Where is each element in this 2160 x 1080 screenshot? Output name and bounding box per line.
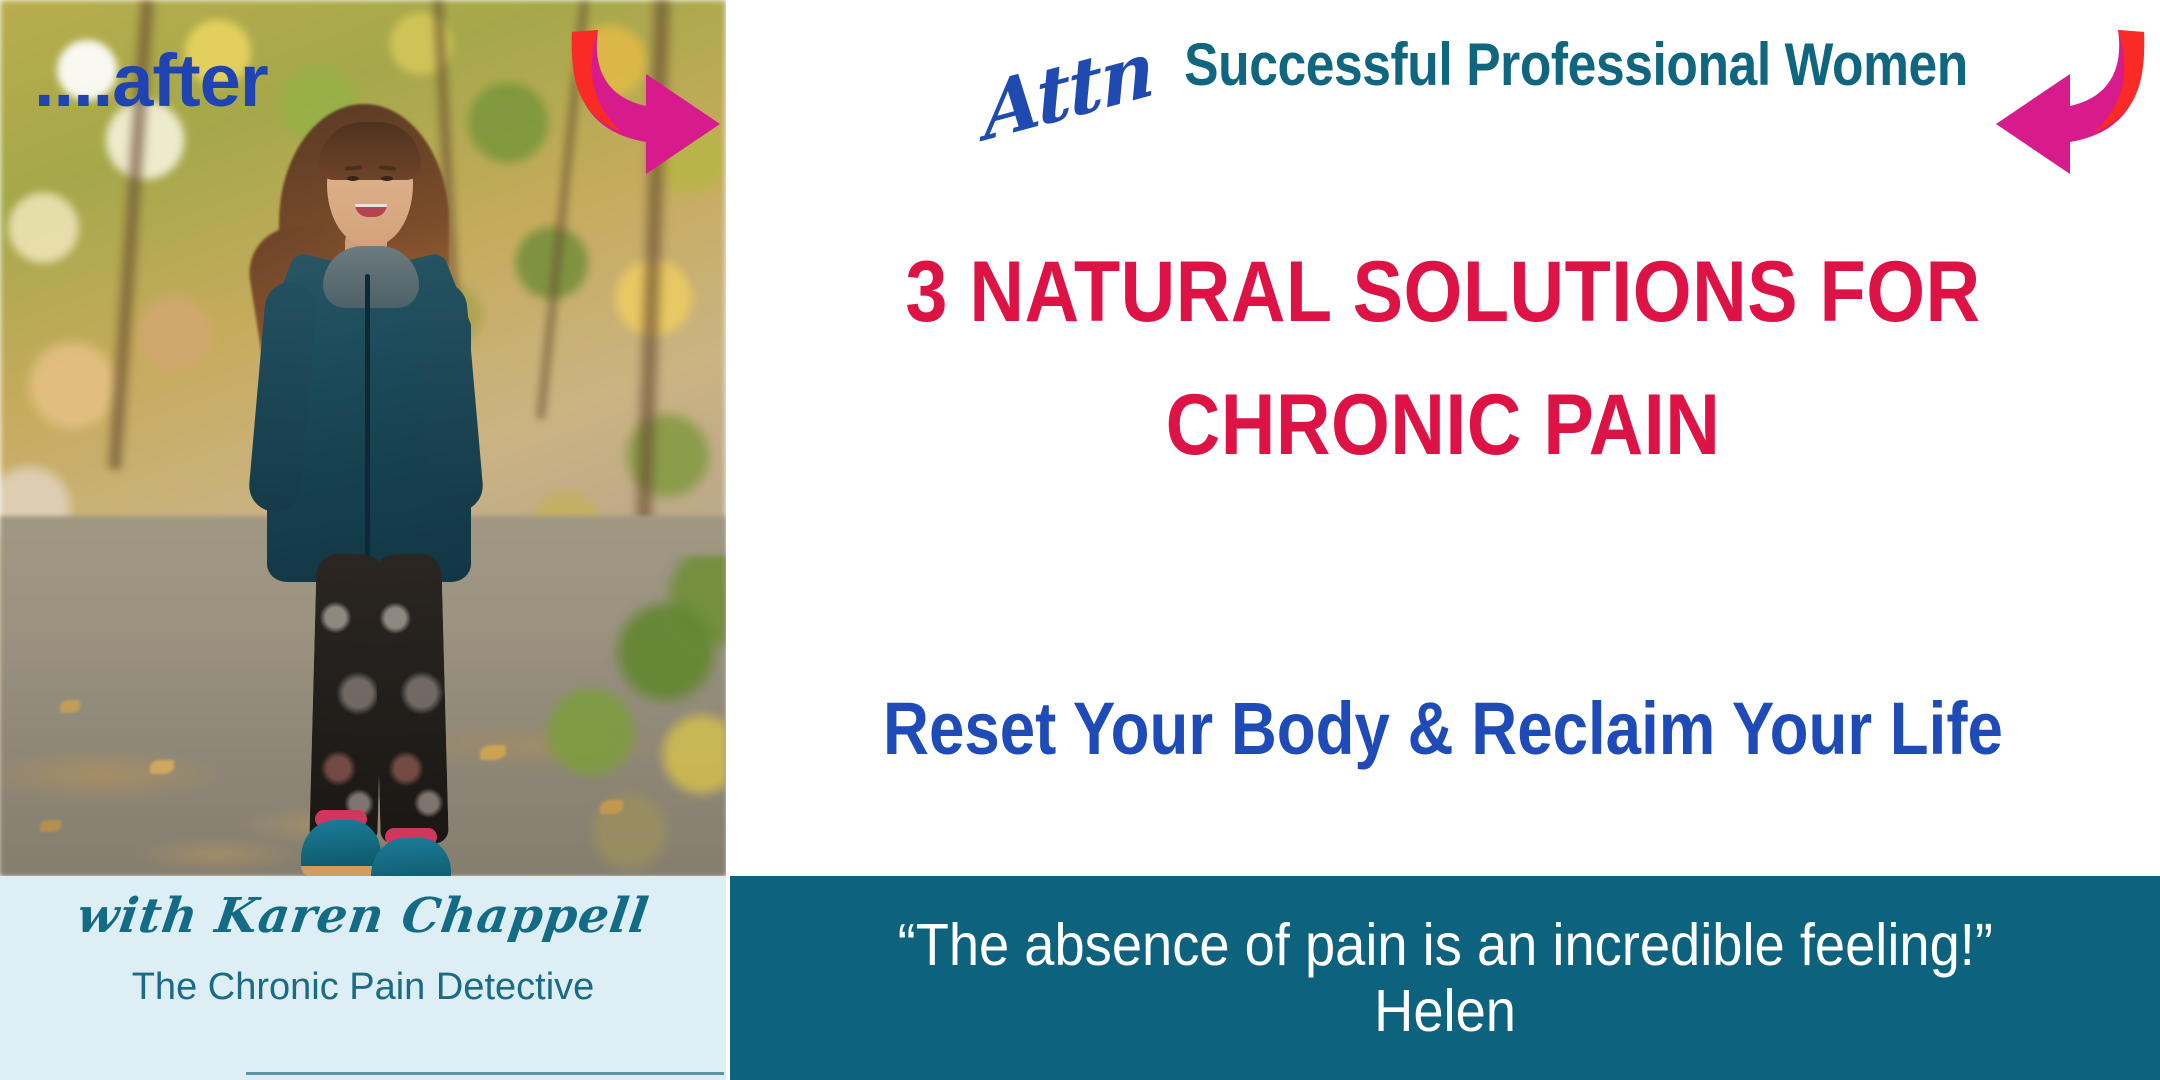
author-divider	[246, 1072, 724, 1075]
photo-woman-figure	[205, 86, 525, 876]
headline-line-2: CHRONIC PAIN	[812, 359, 2074, 492]
fallen-leaf	[600, 800, 623, 814]
fallen-leaf	[150, 760, 174, 774]
curved-arrow-right-icon	[550, 24, 760, 184]
testimonial-bar: “The absence of pain is an incredible fe…	[730, 876, 2160, 1080]
attn-script-label: Attn	[979, 23, 1156, 158]
author-tagline: The Chronic Pain Detective	[0, 966, 726, 1009]
curved-arrow-left-icon	[1956, 24, 2160, 184]
promo-banner: ....after with Karen Chappell The Chroni…	[0, 0, 2160, 1080]
content-panel: Attn Successful Professional Women 3 NAT…	[726, 0, 2160, 876]
kicker-heading: Successful Professional Women	[1155, 30, 1998, 101]
main-headline: 3 NATURAL SOLUTIONS FOR CHRONIC PAIN	[812, 226, 2074, 493]
testimonial-quote: “The absence of pain is an incredible fe…	[897, 912, 1992, 978]
author-signature: with Karen Chappell	[0, 888, 730, 944]
after-label: ....after	[34, 44, 268, 118]
fallen-leaf	[40, 820, 61, 832]
headline-line-1: 3 NATURAL SOLUTIONS FOR	[812, 226, 2074, 359]
author-panel: with Karen Chappell The Chronic Pain Det…	[0, 876, 726, 1080]
testimonial-author: Helen	[1374, 978, 1516, 1044]
fallen-leaf	[60, 700, 80, 713]
sub-headline: Reset Your Body & Reclaim Your Life	[826, 688, 2059, 769]
